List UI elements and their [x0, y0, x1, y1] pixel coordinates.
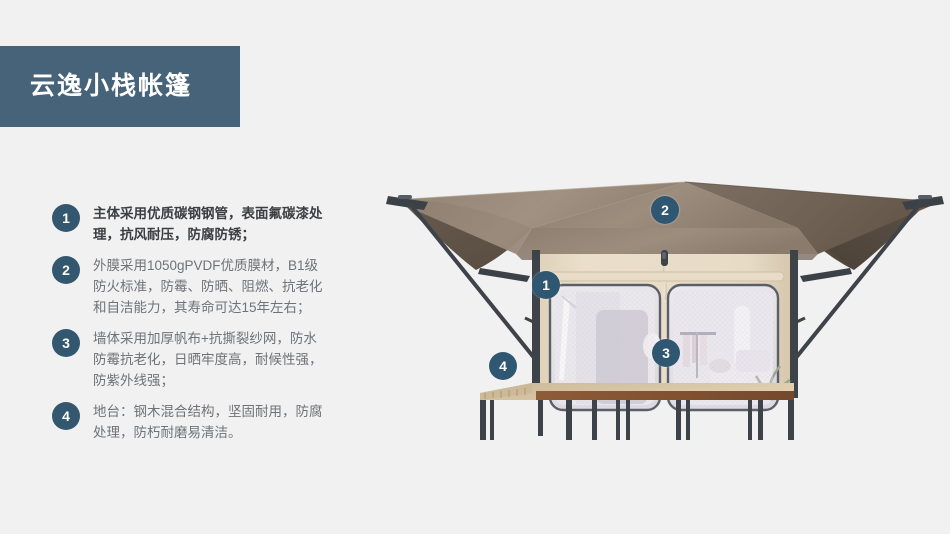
tent-illustration: 1 2 3 4: [380, 150, 950, 440]
page-title: 云逸小栈帐篷: [30, 74, 192, 99]
feature-text-2: 外膜采用1050gPVDF优质膜材，B1级防火标准，防霉、防晒、阻燃、抗老化和自…: [93, 255, 330, 318]
deck-fascia: [536, 391, 794, 400]
feature-text-3: 墙体采用加厚帆布+抗撕裂纱网，防水防霉抗老化，日晒牢度高，耐候性强，防紫外线强；: [93, 328, 330, 391]
slide-canvas: 云逸小栈帐篷 1 主体采用优质碳钢钢管，表面氟碳漆处理，抗风耐压，防腐防锈； 2…: [0, 0, 950, 534]
feature-list: 1 主体采用优质碳钢钢管，表面氟碳漆处理，抗风耐压，防腐防锈； 2 外膜采用10…: [52, 203, 352, 453]
callout-badge-1[interactable]: 1: [532, 271, 560, 299]
feature-badge-2: 2: [52, 256, 80, 284]
feature-item-3: 3 墙体采用加厚帆布+抗撕裂纱网，防水防霉抗老化，日晒牢度高，耐候性强，防紫外线…: [52, 328, 352, 391]
corner-post-right: [790, 250, 798, 398]
wing-tip-fitting-left: [386, 195, 428, 210]
wing-strut-right: [800, 268, 852, 282]
callout-badge-3[interactable]: 3: [652, 339, 680, 367]
wing-strut-left: [478, 268, 530, 282]
callout-badge-2[interactable]: 2: [651, 196, 679, 224]
awning-roller-bar: [546, 272, 784, 281]
feature-text-4: 地台：钢木混合结构，坚固耐用，防腐处理，防朽耐磨易清洁。: [93, 401, 330, 443]
feature-item-2: 2 外膜采用1050gPVDF优质膜材，B1级防火标准，防霉、防晒、阻燃、抗老化…: [52, 255, 352, 318]
title-banner: 云逸小栈帐篷: [0, 46, 240, 127]
feature-text-1: 主体采用优质碳钢钢管，表面氟碳漆处理，抗风耐压，防腐防锈；: [93, 203, 330, 245]
feature-item-1: 1 主体采用优质碳钢钢管，表面氟碳漆处理，抗风耐压，防腐防锈；: [52, 203, 352, 245]
roof-peak-clip: [661, 250, 668, 266]
roof-main-front: [516, 228, 818, 254]
callout-badge-4[interactable]: 4: [489, 352, 517, 380]
feature-badge-4: 4: [52, 402, 80, 430]
feature-badge-1: 1: [52, 204, 80, 232]
tent-drawing: [380, 150, 950, 440]
feature-item-4: 4 地台：钢木混合结构，坚固耐用，防腐处理，防朽耐磨易清洁。: [52, 401, 352, 443]
feature-badge-3: 3: [52, 329, 80, 357]
